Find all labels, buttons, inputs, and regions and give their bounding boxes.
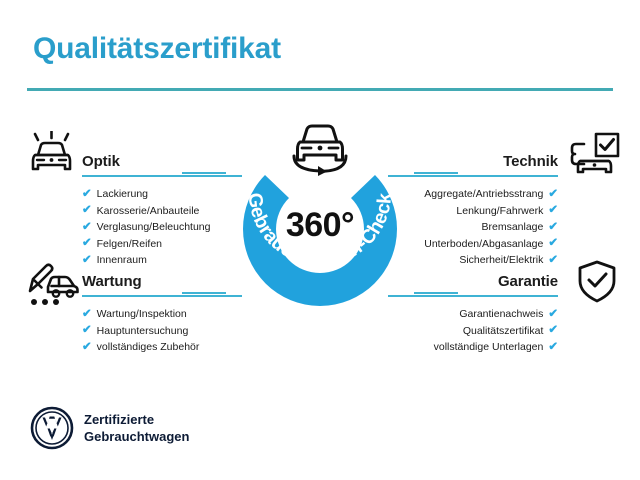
footer-line-1: Zertifizierte <box>84 411 189 428</box>
list-item: Aggregate/Antriebsstrang✔ <box>388 186 558 203</box>
section-technik-title: Technik <box>503 153 558 170</box>
section-technik-head: Technik <box>388 146 558 172</box>
list-item: Lenkung/Fahrwerk✔ <box>388 203 558 220</box>
list-item: Unterboden/Abgasanlage✔ <box>388 236 558 253</box>
check-icon: ✔ <box>548 309 558 321</box>
section-optik-items: ✔Lackierung ✔Karosserie/Anbauteile ✔Verg… <box>82 186 242 269</box>
title-divider <box>27 88 613 91</box>
section-wartung: Wartung ✔Wartung/Inspektion ✔Hauptunters… <box>82 266 242 372</box>
service-book-pen-icon <box>24 261 80 312</box>
footer-brand-text: Zertifizierte Gebrauchtwagen <box>84 411 189 445</box>
list-item-label: Felgen/Reifen <box>97 236 162 253</box>
check-icon: ✔ <box>82 342 92 354</box>
volkswagen-logo <box>30 406 74 450</box>
check-icon: ✔ <box>82 255 92 267</box>
section-optik-title: Optik <box>82 153 120 170</box>
check-icon: ✔ <box>548 189 558 201</box>
list-item: ✔Lackierung <box>82 186 242 203</box>
check-icon: ✔ <box>548 238 558 250</box>
section-technik-divider <box>388 175 558 177</box>
list-item: vollständige Unterlagen✔ <box>388 339 558 356</box>
list-item-label: Hauptuntersuchung <box>97 323 189 340</box>
section-wartung-head: Wartung <box>82 266 242 292</box>
list-item-label: Qualitätszertifikat <box>463 323 544 340</box>
section-technik-items: Aggregate/Antriebsstrang✔ Lenkung/Fahrwe… <box>388 186 558 269</box>
section-wartung-title: Wartung <box>82 273 142 290</box>
check-icon: ✔ <box>82 325 92 337</box>
list-item: Qualitätszertifikat✔ <box>388 323 558 340</box>
list-item-label: vollständige Unterlagen <box>434 339 544 356</box>
list-item-label: Aggregate/Antriebsstrang <box>424 186 543 203</box>
car-checkbox-icon <box>566 131 622 182</box>
list-item-label: Lenkung/Fahrwerk <box>456 203 543 220</box>
list-item: ✔Hauptuntersuchung <box>82 323 242 340</box>
list-item-label: Karosserie/Anbauteile <box>97 203 200 220</box>
check-icon: ✔ <box>548 342 558 354</box>
check-icon: ✔ <box>82 238 92 250</box>
section-optik: Optik ✔Lackierung ✔Karosserie/Anbauteile… <box>82 146 242 285</box>
list-item-label: Bremsanlage <box>481 219 543 236</box>
list-item: ✔Felgen/Reifen <box>82 236 242 253</box>
badge-degrees-label: 360° <box>227 206 413 245</box>
footer-line-2: Gebrauchtwagen <box>84 428 189 445</box>
list-item-label: Unterboden/Abgasanlage <box>424 236 543 253</box>
list-item: Garantienachweis✔ <box>388 306 558 323</box>
check-icon: ✔ <box>548 222 558 234</box>
section-optik-head: Optik <box>82 146 242 172</box>
section-garantie-items: Garantienachweis✔ Qualitätszertifikat✔ v… <box>388 306 558 356</box>
check-icon: ✔ <box>548 255 558 267</box>
certificate-page: Qualitätszertifikat <box>0 0 640 480</box>
list-item-label: Garantienachweis <box>459 306 543 323</box>
section-garantie-divider <box>388 295 558 297</box>
section-garantie-title: Garantie <box>498 273 558 290</box>
section-wartung-items: ✔Wartung/Inspektion ✔Hauptuntersuchung ✔… <box>82 306 242 356</box>
list-item-label: Lackierung <box>97 186 148 203</box>
check-icon: ✔ <box>548 325 558 337</box>
check-icon: ✔ <box>548 205 558 217</box>
list-item: ✔Verglasung/Beleuchtung <box>82 219 242 236</box>
section-garantie-head: Garantie <box>388 266 558 292</box>
check-icon: ✔ <box>82 189 92 201</box>
list-item-label: vollständiges Zubehör <box>97 339 200 356</box>
check-icon: ✔ <box>82 222 92 234</box>
list-item-label: Verglasung/Beleuchtung <box>97 219 211 236</box>
list-item: Bremsanlage✔ <box>388 219 558 236</box>
list-item-label: Wartung/Inspektion <box>97 306 187 323</box>
section-garantie: Garantie Garantienachweis✔ Qualitätszert… <box>388 266 558 372</box>
car-shine-icon <box>26 131 78 182</box>
check-icon: ✔ <box>82 309 92 321</box>
section-optik-divider <box>82 175 242 177</box>
shield-check-icon <box>576 259 618 310</box>
list-item: ✔Wartung/Inspektion <box>82 306 242 323</box>
check-icon: ✔ <box>82 205 92 217</box>
page-title: Qualitätszertifikat <box>33 32 281 66</box>
section-wartung-divider <box>82 295 242 297</box>
list-item: ✔Karosserie/Anbauteile <box>82 203 242 220</box>
section-technik: Technik Aggregate/Antriebsstrang✔ Lenkun… <box>388 146 558 285</box>
list-item: ✔vollständiges Zubehör <box>82 339 242 356</box>
